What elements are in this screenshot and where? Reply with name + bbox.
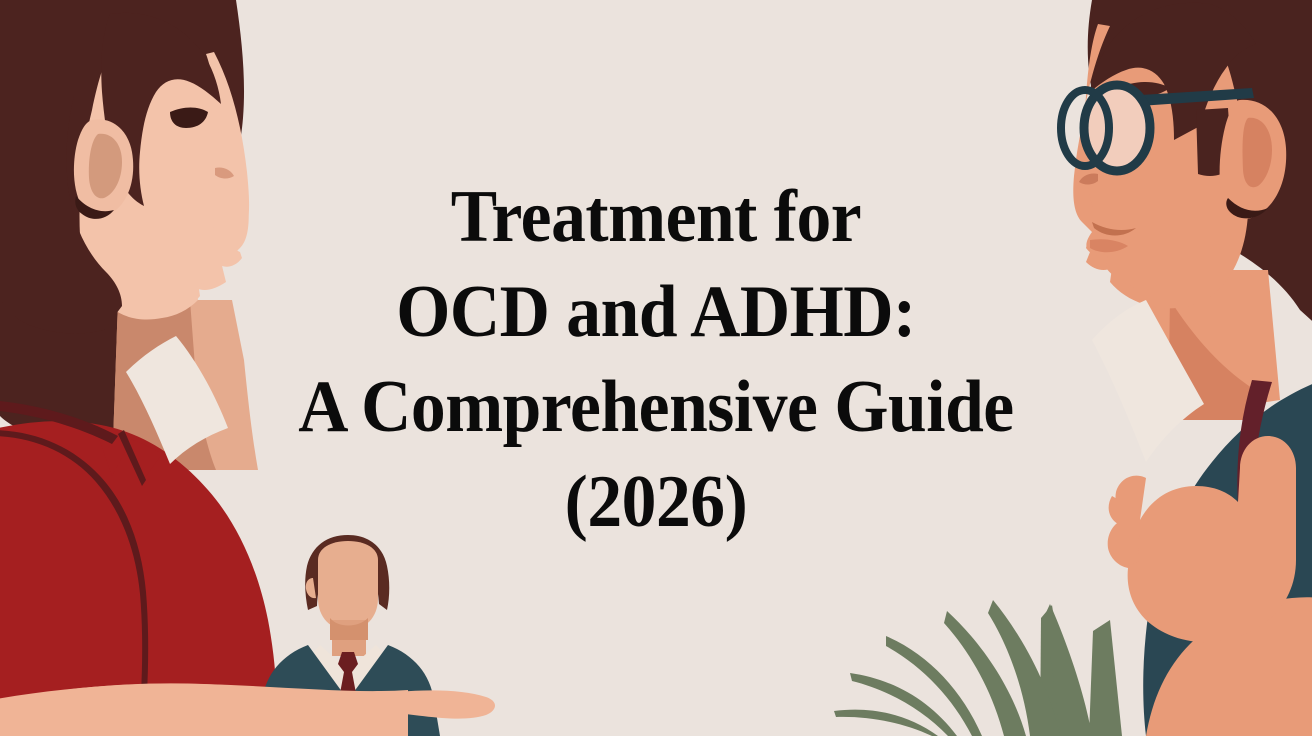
poster-canvas: Treatment for OCD and ADHD: A Comprehens… — [0, 0, 1312, 736]
small-figure-face — [318, 541, 378, 630]
small-suited-person-in-palm — [0, 0, 1312, 736]
